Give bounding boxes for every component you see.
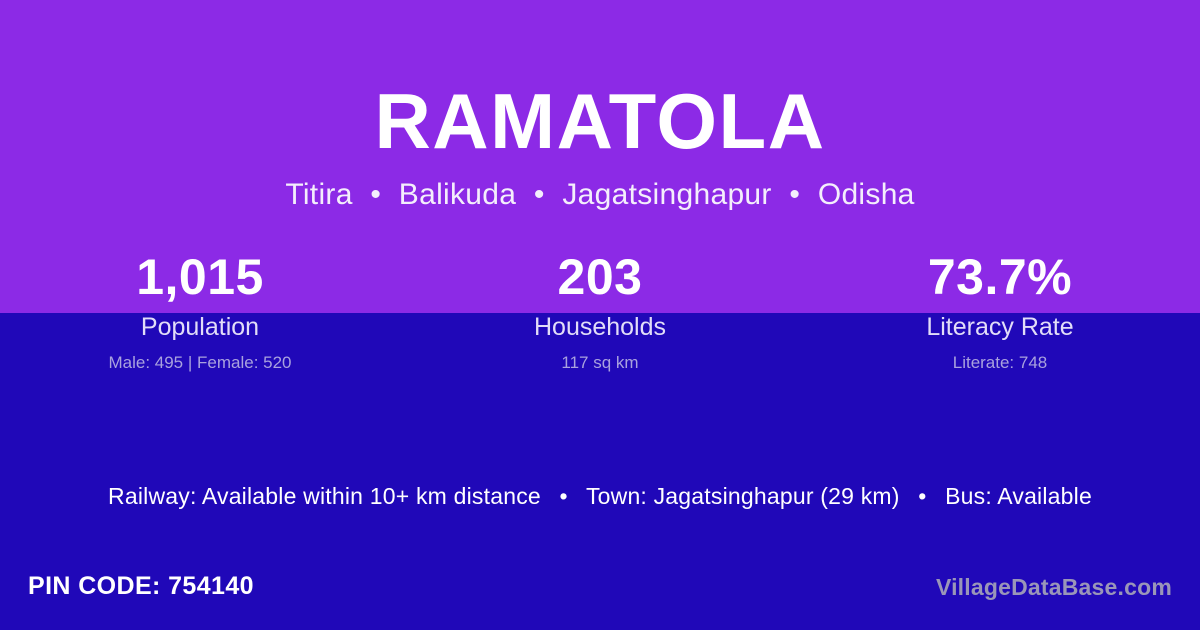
- infra-item-bus: Bus: Available: [945, 483, 1092, 509]
- breadcrumb: Titira • Balikuda • Jagatsinghapur • Odi…: [0, 178, 1200, 212]
- stat-value-population: 1,015: [0, 248, 400, 307]
- stat-sub-households: 117 sq km: [400, 353, 800, 373]
- breadcrumb-item-district: Jagatsinghapur: [562, 178, 771, 211]
- stat-sub-literacy: Literate: 748: [800, 353, 1200, 373]
- stats-row: 1,015 Population Male: 495 | Female: 520…: [0, 248, 1200, 372]
- infra-separator: •: [906, 483, 938, 510]
- stat-literacy: 73.7% Literacy Rate Literate: 748: [800, 248, 1200, 372]
- village-info-card: RAMATOLA Titira • Balikuda • Jagatsingha…: [0, 0, 1200, 630]
- card-footer: PIN CODE: 754140 VillageDataBase.com: [0, 558, 1200, 630]
- breadcrumb-separator: •: [525, 178, 554, 212]
- infra-item-railway: Railway: Available within 10+ km distanc…: [108, 483, 541, 509]
- infra-item-town: Town: Jagatsinghapur (29 km): [586, 483, 900, 509]
- stat-label-households: Households: [400, 313, 800, 342]
- breadcrumb-item-block: Balikuda: [399, 178, 516, 211]
- card-header: RAMATOLA Titira • Balikuda • Jagatsingha…: [0, 0, 1200, 212]
- page-title: RAMATOLA: [0, 82, 1200, 162]
- breadcrumb-separator: •: [780, 178, 809, 212]
- stat-value-households: 203: [400, 248, 800, 307]
- stat-label-population: Population: [0, 313, 400, 342]
- stat-sub-population: Male: 495 | Female: 520: [0, 353, 400, 373]
- stat-value-literacy: 73.7%: [800, 248, 1200, 307]
- breadcrumb-item-village: Titira: [285, 178, 352, 211]
- stat-households: 203 Households 117 sq km: [400, 248, 800, 372]
- infra-separator: •: [547, 483, 579, 510]
- infrastructure-summary: Railway: Available within 10+ km distanc…: [0, 483, 1200, 510]
- breadcrumb-item-state: Odisha: [818, 178, 915, 211]
- stat-population: 1,015 Population Male: 495 | Female: 520: [0, 248, 400, 372]
- stat-label-literacy: Literacy Rate: [800, 313, 1200, 342]
- pin-code: PIN CODE: 754140: [28, 572, 254, 601]
- site-branding: VillageDataBase.com: [936, 574, 1172, 601]
- breadcrumb-separator: •: [361, 178, 390, 212]
